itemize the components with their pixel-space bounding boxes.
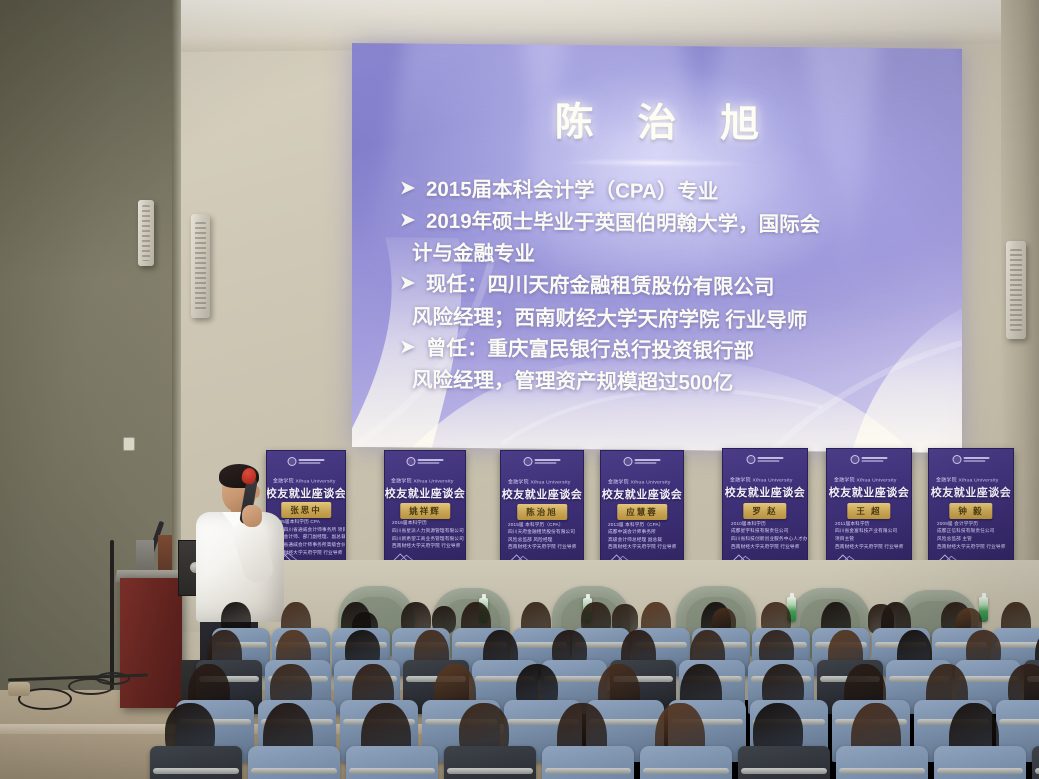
university-logo-icon: [524, 457, 561, 466]
bullet-text-continued: 风险经理，管理资产规模超过500亿: [400, 364, 928, 400]
placard-bio-lines: 2010届本科学历成都星宇科技有限责任公司四川省科技创新创业服务中心人才办主任西…: [731, 520, 800, 548]
bullet-text: 现任：四川天府金融租赁股份有限公司: [426, 269, 928, 305]
audience-seat: [346, 746, 438, 779]
slide-bullet-list: ➤ 2015届本科会计学（CPA）专业 ➤ 2019年硕士毕业于英国伯明翰大学，…: [400, 173, 928, 400]
placard-school-line: 金融学院 Xihua University: [273, 477, 336, 484]
audience-seat: [248, 746, 340, 779]
seat-trim: [999, 719, 1039, 725]
placard-bio-line: 四川省星派人力资源管理有限公司: [392, 526, 466, 534]
university-logo-icon: [747, 455, 784, 464]
university-logo-icon: [288, 457, 325, 466]
bullet-text: 2019年硕士毕业于英国伯明翰大学，国际会: [426, 206, 928, 242]
placard-bio-lines: 2015届 本科学历（CPA）四川天府金融租赁股份有限公司风险总监部 风险经理西…: [508, 521, 575, 549]
seat-trim: [937, 768, 1023, 774]
column-speaker-icon: [138, 200, 154, 266]
placard-bio-line: 成都星宇科技有限责任公司: [731, 526, 808, 534]
seat-trim: [251, 768, 337, 774]
event-placard: 金融学院 Xihua University校友就业座谈会钟 毅2009届 会计学…: [928, 448, 1014, 572]
event-placard: 金融学院 Xihua University校友就业座谈会罗 赵2010届本科学历…: [722, 448, 808, 572]
seat-trim: [349, 768, 435, 774]
audience-seat: [738, 746, 830, 779]
placard-bio-line: 四川新希望工商业务管理有限公司 董事: [392, 533, 466, 541]
audience-seat: [640, 746, 732, 779]
seat-trim: [839, 768, 925, 774]
placard-event-title: 校友就业座谈会: [266, 485, 346, 501]
placard-school-line: 金融学院 Xihua University: [834, 476, 897, 483]
placard-bio-line: 成都中诚会计师事务所: [608, 527, 684, 535]
placard-event-title: 校友就业座谈会: [931, 484, 1012, 500]
seat-trim: [545, 768, 631, 774]
placard-bio-line: 四川省金富科技产业有限公司: [835, 526, 912, 534]
placard-name-badge: 罗 赵: [743, 503, 786, 519]
placard-bio-line: 西南财经大学天府学院 行业导师: [608, 542, 684, 550]
placard-name-badge: 王 超: [847, 503, 890, 519]
bullet-arrow-icon: ➤: [400, 206, 426, 235]
placard-school-line: 金融学院 Xihua University: [508, 477, 571, 484]
seat-trim: [1035, 768, 1039, 774]
audience-seat: [542, 746, 634, 779]
placard-bio-line: 2013届 本科学历（CPA）: [608, 519, 684, 527]
audience-seat: [836, 746, 928, 779]
placard-bio-line: 西南财经大学天府学院 行业导师: [731, 541, 808, 549]
seat-trim: [153, 768, 239, 774]
audience-seat: [934, 746, 1026, 779]
placard-bio-line: 西南财经大学天府学院 行业导师: [835, 541, 912, 549]
placard-event-title: 校友就业座谈会: [829, 484, 910, 500]
placard-bio-line: 项目主管: [835, 534, 912, 542]
slide-title: 陈 治 旭: [352, 89, 962, 151]
placard-bio-line: 2005届本科学历 CPA: [274, 517, 346, 525]
column-speaker-icon: [191, 214, 210, 318]
placard-bio-lines: 2013届 本科学历（CPA）成都中诚会计师事务所高级会计师总经理 副总裁西南财…: [608, 521, 675, 549]
placard-bio-line: 成都正信科技有限责任公司: [937, 526, 1014, 534]
slide-bullet: ➤ 2015届本科会计学（CPA）专业: [400, 173, 928, 209]
placard-event-title: 校友就业座谈会: [502, 486, 583, 502]
podium-equipment-panel: [136, 540, 154, 574]
placard-bio-line: 四川天府金融租赁股份有限公司: [508, 527, 584, 535]
conference-hall-photo: 陈 治 旭 ➤ 2015届本科会计学（CPA）专业 ➤ 2019年硕士毕业于英国…: [0, 0, 1039, 779]
presenter-hand: [242, 505, 262, 527]
placard-bio-line: 西南财经大学天府学院 行业导师: [937, 541, 1014, 549]
placard-school-line: 金融学院 Xihua University: [730, 476, 793, 483]
placard-bio-line: 高级会计师、部门副经理、副总裁: [274, 532, 346, 540]
seat-trim: [643, 768, 729, 774]
university-logo-icon: [624, 457, 661, 466]
event-placard: 金融学院 Xihua University校友就业座谈会陈治旭2015届 本科学…: [500, 450, 584, 572]
placard-bio-lines: 2016届本科学历四川省星派人力资源管理有限公司四川新希望工商业务管理有限公司 …: [392, 519, 458, 547]
university-logo-icon: [851, 455, 888, 464]
placard-bio-lines: 2011届本科学历四川省金富科技产业有限公司项目主管西南财经大学天府学院 行业导…: [835, 520, 904, 548]
placard-bio-line: 四川省科技创新创业服务中心人才办主任: [731, 534, 808, 542]
placard-name-badge: 钟 毅: [949, 503, 992, 519]
placard-bio-line: 西南财经大学天府学院 行业导师: [392, 541, 466, 549]
event-placard: 金融学院 Xihua University校友就业座谈会王 超2011届本科学历…: [826, 448, 912, 572]
placard-name-badge: 应慧蓉: [617, 504, 667, 520]
placard-bio-line: 2016届本科学历: [392, 518, 466, 526]
placard-bio-lines: 2009届 会计学学历成都正信科技有限责任公司风险总监部 主管西南财经大学天府学…: [937, 520, 1006, 548]
wall-cable: [110, 540, 114, 690]
bullet-text: 2015届本科会计学（CPA）专业: [426, 174, 928, 210]
projection-screen: 陈 治 旭 ➤ 2015届本科会计学（CPA）专业 ➤ 2019年硕士毕业于英国…: [352, 43, 962, 453]
university-logo-icon: [407, 457, 444, 466]
seat-trim: [447, 768, 533, 774]
foam-roll: [8, 682, 30, 696]
placard-bio-line: 四川省通威会计师事务所高级合伙人: [274, 540, 346, 548]
wall-outlet: [123, 437, 135, 451]
university-logo-icon: [953, 455, 990, 464]
seat-trim: [995, 642, 1039, 648]
bullet-text-continued: 计与金融专业: [400, 238, 928, 274]
podium-equipment-panel: [158, 535, 172, 575]
placard-name-badge: 张思中: [281, 502, 331, 518]
coiled-cable: [96, 672, 130, 685]
placard-bio-line: 西南财经大学天府学院 行业导师: [508, 542, 584, 550]
audience-seat: [150, 746, 242, 779]
bullet-text-continued: 风险经理；西南财经大学天府学院 行业导师: [400, 301, 928, 337]
column-speaker-icon: [1006, 241, 1026, 339]
bullet-text: 曾任：重庆富民银行总行投资银行部: [426, 332, 928, 368]
placard-name-badge: 陈治旭: [517, 504, 567, 520]
placard-school-line: 金融学院 Xihua University: [608, 477, 671, 484]
placard-bio-line: 2015届 本科学历（CPA）: [508, 519, 584, 527]
slide-bullet: ➤ 2019年硕士毕业于英国伯明翰大学，国际会: [400, 206, 928, 242]
bullet-arrow-icon: ➤: [400, 269, 426, 298]
placard-name-badge: 姚祥辉: [400, 503, 450, 519]
slide-bullet: ➤ 曾任：重庆富民银行总行投资银行部: [400, 332, 928, 368]
event-placard: 金融学院 Xihua University校友就业座谈会姚祥辉2016届本科学历…: [384, 450, 466, 570]
event-placard: 金融学院 Xihua University校友就业座谈会应慧蓉2013届 本科学…: [600, 450, 684, 572]
placard-event-title: 校友就业座谈会: [602, 486, 683, 502]
bullet-arrow-icon: ➤: [400, 173, 426, 202]
placard-bio-line: 风险总监部 主管: [937, 534, 1014, 542]
placard-event-title: 校友就业座谈会: [725, 484, 806, 500]
placard-school-line: 金融学院 Xihua University: [936, 476, 999, 483]
seat-trim: [741, 768, 827, 774]
bullet-arrow-icon: ➤: [400, 332, 426, 361]
placard-event-title: 校友就业座谈会: [385, 485, 466, 501]
slide-bullet: ➤ 现任：四川天府金融租赁股份有限公司: [400, 269, 928, 305]
audience-seat: [444, 746, 536, 779]
audience-seat: [1032, 746, 1039, 779]
ceiling: [178, 0, 1039, 52]
placard-school-line: 金融学院 Xihua University: [391, 477, 454, 484]
wooden-lectern: [120, 578, 182, 708]
